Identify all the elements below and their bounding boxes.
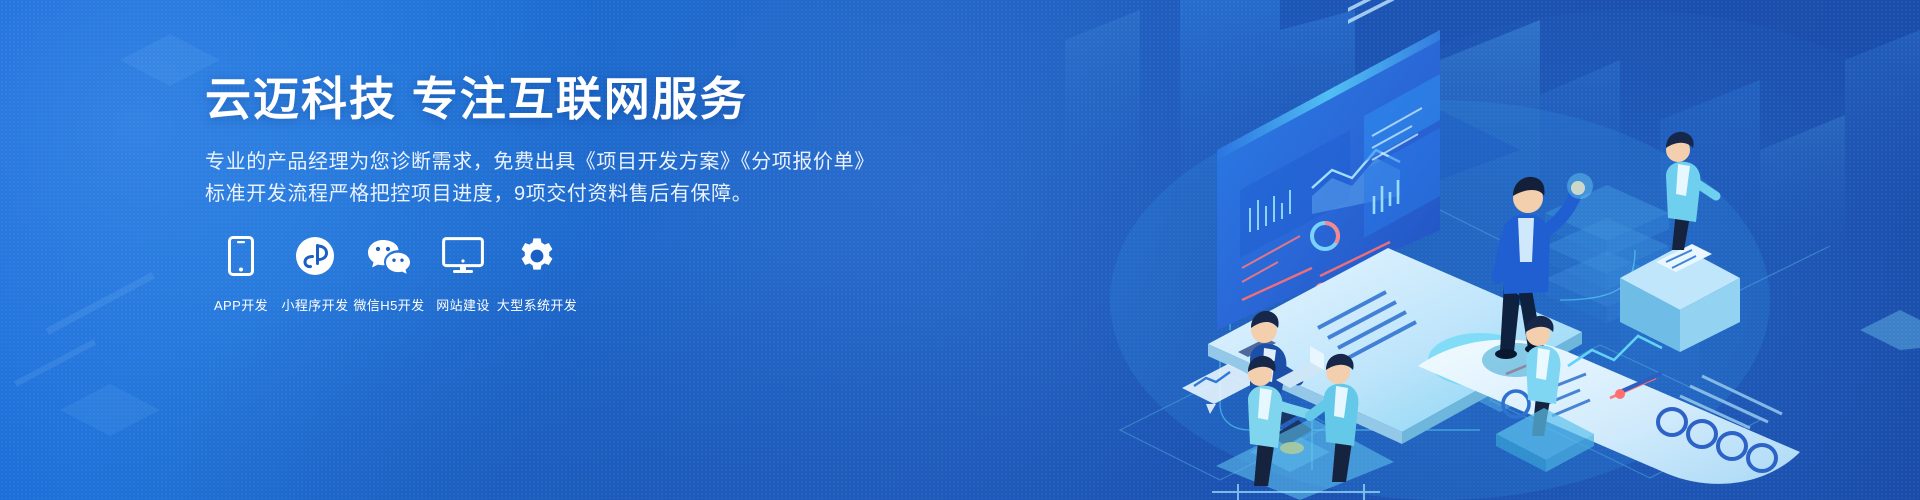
monitor-icon [442, 233, 484, 279]
service-item-app[interactable]: APP开发 [205, 233, 277, 314]
wechat-icon [367, 233, 411, 279]
service-list: APP开发 小程序开发 [205, 233, 573, 314]
page-title: 云迈科技 专注互联网服务 [205, 72, 748, 127]
mini-program-icon [295, 233, 335, 279]
subtitle-line-1: 专业的产品经理为您诊断需求，免费出具《项目开发方案》《分项报价单》 [205, 147, 875, 178]
mobile-phone-icon [228, 233, 254, 279]
service-label: 小程序开发 [281, 295, 348, 314]
gear-icon [517, 233, 557, 279]
service-label: 网站建设 [436, 295, 490, 314]
service-item-large-system[interactable]: 大型系统开发 [501, 233, 573, 314]
service-label: 大型系统开发 [497, 295, 577, 314]
service-item-wechat-h5[interactable]: 微信H5开发 [353, 233, 425, 314]
service-label: APP开发 [214, 295, 268, 314]
illustration-svg [920, 0, 1920, 500]
subtitle-line-2: 标准开发流程严格把控项目进度，9项交付资料售后有保障。 [205, 179, 752, 210]
isometric-illustration [920, 0, 1920, 500]
service-label: 微信H5开发 [353, 295, 424, 314]
service-item-website[interactable]: 网站建设 [427, 233, 499, 314]
hero-banner: 云迈科技 专注互联网服务 专业的产品经理为您诊断需求，免费出具《项目开发方案》《… [0, 0, 1920, 500]
service-item-mini-program[interactable]: 小程序开发 [279, 233, 351, 314]
hero-content: 云迈科技 专注互联网服务 专业的产品经理为您诊断需求，免费出具《项目开发方案》《… [205, 0, 965, 500]
